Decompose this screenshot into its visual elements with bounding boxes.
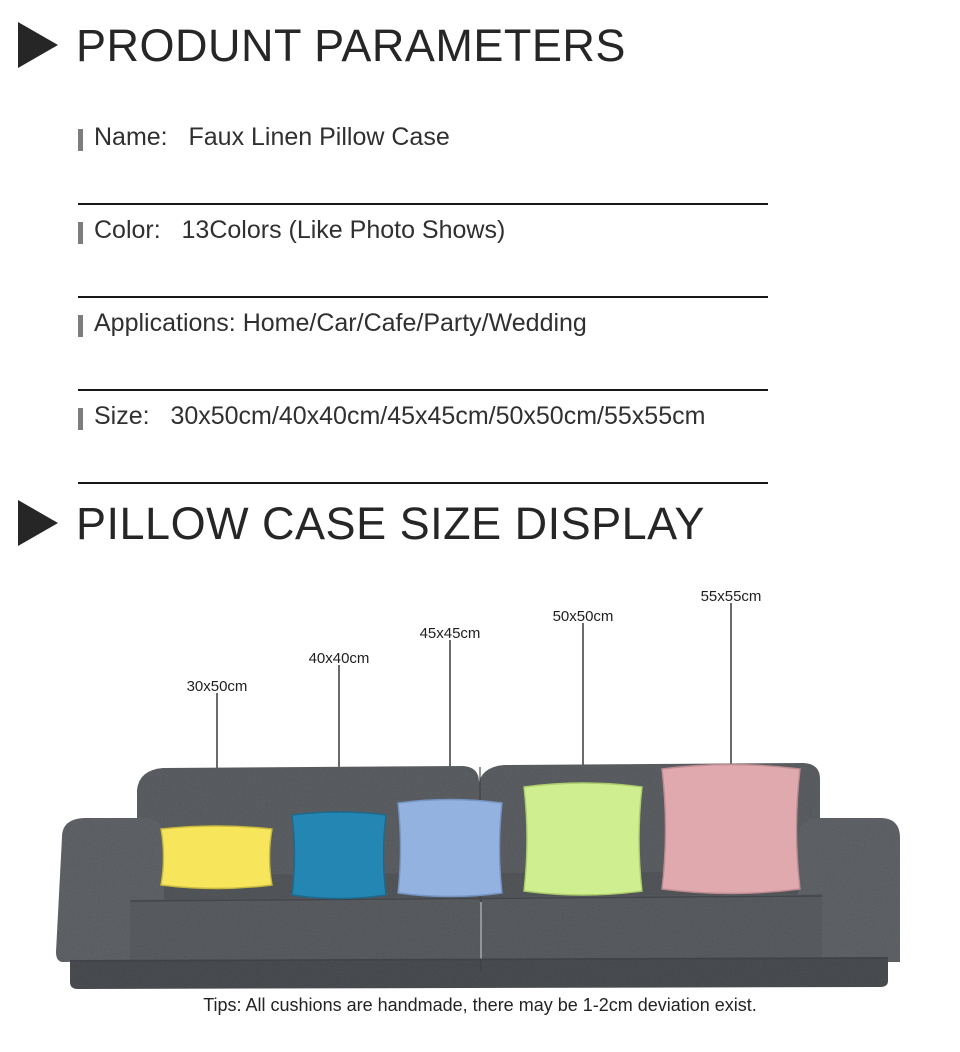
parameter-key: Applications: <box>94 309 236 337</box>
size-display-illustration: 30x50cm 40x40cm 45x45cm 50x50cm 55x55cm <box>0 575 960 1005</box>
parameter-key: Size: <box>94 402 150 430</box>
parameter-key: Name: <box>94 123 168 151</box>
size-label-40x40: 40x40cm <box>309 651 370 666</box>
pillow-50x50 <box>524 783 642 895</box>
section-heading-size-display: PILLOW CASE SIZE DISPLAY <box>18 500 705 546</box>
parameter-row-name: Name: Faux Linen Pillow Case <box>78 112 768 205</box>
pillow-shape <box>398 800 502 897</box>
size-label-50x50: 50x50cm <box>553 609 614 624</box>
parameter-list: Name: Faux Linen Pillow Case Color: 13Co… <box>78 112 768 484</box>
parameter-row-applications: Applications: Home/Car/Cafe/Party/Weddin… <box>78 298 768 391</box>
section-title: PILLOW CASE SIZE DISPLAY <box>76 501 705 546</box>
parameter-text: Applications: Home/Car/Cafe/Party/Weddin… <box>94 310 587 338</box>
product-detail-page: PRODUNT PARAMETERS Name: Faux Linen Pill… <box>0 0 960 1052</box>
pillow-shape <box>292 812 386 899</box>
parameter-value: Faux Linen Pillow Case <box>188 123 449 151</box>
pillow-55x55 <box>662 765 800 894</box>
parameter-text: Size: 30x50cm/40x40cm/45x45cm/50x50cm/55… <box>94 403 705 431</box>
size-label-30x50: 30x50cm <box>187 679 248 694</box>
triangle-right-icon <box>18 500 58 546</box>
pillow-shape <box>524 783 642 895</box>
pillow-shape <box>161 826 272 889</box>
bullet-bar-icon <box>78 222 83 244</box>
parameter-key: Color: <box>94 216 161 244</box>
parameter-value: 30x50cm/40x40cm/45x45cm/50x50cm/55x55cm <box>170 402 705 430</box>
parameter-row-color: Color: 13Colors (Like Photo Shows) <box>78 205 768 298</box>
parameter-value: 13Colors (Like Photo Shows) <box>182 216 506 244</box>
bullet-bar-icon <box>78 129 83 151</box>
bullet-bar-icon <box>78 408 83 430</box>
pillow-40x40 <box>292 812 386 899</box>
tips-text: Tips: All cushions are handmade, there m… <box>0 995 960 1016</box>
parameter-text: Color: 13Colors (Like Photo Shows) <box>94 217 505 245</box>
pillow-shape <box>662 765 800 894</box>
section-heading-parameters: PRODUNT PARAMETERS <box>18 22 626 68</box>
parameter-row-size: Size: 30x50cm/40x40cm/45x45cm/50x50cm/55… <box>78 391 768 484</box>
bullet-bar-icon <box>78 315 83 337</box>
parameter-text: Name: Faux Linen Pillow Case <box>94 124 450 152</box>
parameter-value: Home/Car/Cafe/Party/Wedding <box>243 309 587 337</box>
triangle-right-icon <box>18 22 58 68</box>
page-title: PRODUNT PARAMETERS <box>76 23 626 68</box>
pillow-45x45 <box>398 800 502 897</box>
size-label-45x45: 45x45cm <box>420 626 481 641</box>
size-label-55x55: 55x55cm <box>701 589 762 604</box>
